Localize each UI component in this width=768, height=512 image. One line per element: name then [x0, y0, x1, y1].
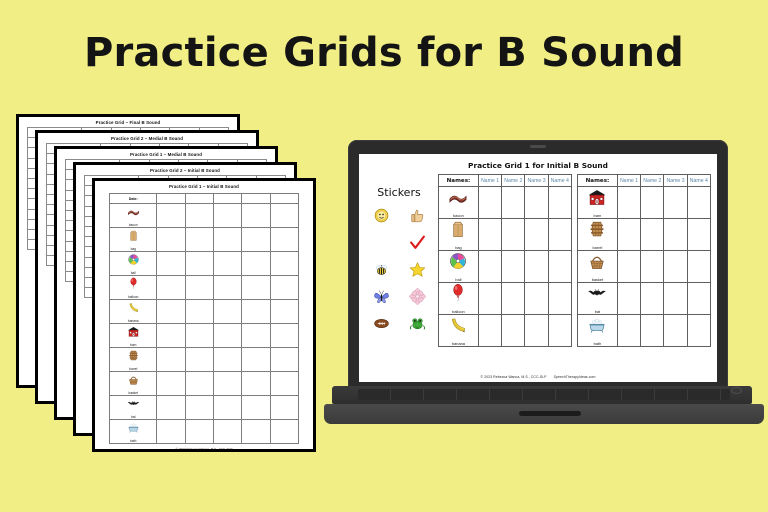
table-row: bath [110, 420, 299, 444]
score-cell[interactable] [185, 276, 213, 300]
practice-grid: Names:Name 1Name 2Name 3Name 4 barn barr… [577, 174, 711, 347]
word-cell: bath [578, 315, 618, 347]
score-cell[interactable] [185, 204, 213, 228]
score-cell[interactable] [157, 276, 185, 300]
table-row: bacon [439, 187, 572, 219]
bat-icon [587, 290, 607, 307]
score-cell[interactable] [185, 420, 213, 444]
name-column-header[interactable]: Name 2 [641, 175, 664, 187]
laptop-lid: Practice Grid 1 for Initial B Sound Stic… [348, 140, 728, 394]
score-cell[interactable] [157, 348, 185, 372]
footer-copyright: © 2023 Rebecca Wanca, M.S., CCC-SLP [480, 375, 546, 379]
football-sticker[interactable] [373, 315, 390, 337]
table-row: barrel [110, 348, 299, 372]
score-cell[interactable] [478, 315, 501, 347]
score-cell[interactable] [185, 300, 213, 324]
bathtub-icon [110, 421, 156, 439]
score-cell[interactable] [525, 283, 548, 315]
bacon-icon [448, 194, 468, 211]
bee-sticker[interactable] [373, 261, 390, 283]
score-cell[interactable] [213, 420, 241, 444]
score-cell[interactable] [687, 251, 710, 283]
score-cell[interactable] [478, 251, 501, 283]
table-header-row: Names:Name 1Name 2Name 3Name 4 [439, 175, 572, 187]
bat-icon [110, 397, 156, 415]
beachball-icon [448, 258, 468, 275]
score-cell[interactable] [502, 251, 525, 283]
score-cell[interactable] [213, 348, 241, 372]
score-cell[interactable] [525, 219, 548, 251]
word-label: ball [439, 277, 478, 282]
word-cell: ball [439, 251, 479, 283]
word-cell: banana [110, 300, 157, 324]
score-cell[interactable] [617, 251, 640, 283]
sheet-title: Practice Grid 2 – Medial B Sound [38, 133, 256, 143]
score-cell[interactable] [502, 315, 525, 347]
score-cell[interactable] [213, 372, 241, 396]
word-label: bath [110, 439, 156, 443]
score-cell[interactable] [664, 187, 687, 219]
score-cell[interactable] [617, 187, 640, 219]
word-label: barrel [110, 367, 156, 371]
score-cell[interactable] [641, 283, 664, 315]
stickers-panel: Stickers [365, 174, 433, 337]
yellow-star-sticker[interactable] [409, 261, 426, 283]
word-cell: barrel [110, 348, 157, 372]
score-cell[interactable] [242, 252, 270, 276]
word-label: bat [110, 415, 156, 419]
word-cell: bag [110, 228, 157, 252]
score-cell[interactable] [270, 276, 298, 300]
sheet-title: Practice Grid 2 – Initial B Sound [76, 165, 294, 175]
table-row: bag [439, 219, 572, 251]
table-row: bacon [110, 204, 299, 228]
beachball-icon [110, 253, 156, 271]
score-cell[interactable] [270, 228, 298, 252]
word-cell: barn [578, 187, 618, 219]
bag-icon [110, 229, 156, 247]
red-check-sticker[interactable] [409, 234, 426, 256]
word-cell: banana [439, 315, 479, 347]
score-cell[interactable] [270, 420, 298, 444]
butterfly-sticker[interactable] [373, 288, 390, 310]
word-label: banana [110, 319, 156, 323]
word-cell: barn [110, 324, 157, 348]
basket-icon [110, 373, 156, 391]
worksheet-sheet[interactable]: Practice Grid 1 – Initial B SoundDate: b… [92, 178, 316, 452]
word-label: balloon [439, 309, 478, 314]
name-column-header[interactable]: Name 3 [664, 175, 687, 187]
word-cell: bacon [439, 187, 479, 219]
laptop-mockup: Practice Grid 1 for Initial B Sound Stic… [336, 140, 764, 432]
score-cell[interactable] [213, 276, 241, 300]
table-row: barn [578, 187, 711, 219]
word-label: bag [439, 245, 478, 250]
word-cell: bath [110, 420, 157, 444]
table-row: barn [110, 324, 299, 348]
laptop-latch-notch-icon [519, 411, 581, 416]
laptop-keyboard[interactable] [358, 389, 730, 400]
banana-icon [448, 322, 468, 339]
score-cell[interactable] [213, 396, 241, 420]
score-cell[interactable] [617, 219, 640, 251]
table-header-row: Names:Name 1Name 2Name 3Name 4 [578, 175, 711, 187]
score-cell[interactable] [157, 204, 185, 228]
score-cell[interactable] [185, 252, 213, 276]
score-cell[interactable] [242, 276, 270, 300]
score-cell[interactable] [242, 324, 270, 348]
practice-grid: Names:Name 1Name 2Name 3Name 4 bacon bag… [438, 174, 572, 347]
table-row: banana [110, 300, 299, 324]
practice-tables: Names:Name 1Name 2Name 3Name 4 bacon bag… [438, 174, 711, 347]
barn-icon [110, 325, 156, 343]
score-cell[interactable] [548, 251, 571, 283]
score-cell[interactable] [548, 315, 571, 347]
word-label: bat [578, 309, 617, 314]
score-cell[interactable] [664, 315, 687, 347]
score-cell[interactable] [185, 348, 213, 372]
score-cell[interactable] [617, 315, 640, 347]
score-cell[interactable] [185, 396, 213, 420]
score-cell[interactable] [270, 324, 298, 348]
score-cell[interactable] [242, 300, 270, 324]
score-cell[interactable] [664, 219, 687, 251]
sheet-title: Practice Grid – Final B Sound [19, 117, 237, 127]
barrel-icon [110, 349, 156, 367]
name-column-header[interactable]: Name 1 [617, 175, 640, 187]
word-cell: bat [110, 396, 157, 420]
names-header: Names: [578, 175, 618, 187]
word-label: balloon [110, 295, 156, 299]
score-cell[interactable] [213, 204, 241, 228]
score-cell[interactable] [502, 283, 525, 315]
name-column-header[interactable]: Name 2 [502, 175, 525, 187]
score-cell[interactable] [157, 372, 185, 396]
score-cell[interactable] [270, 252, 298, 276]
table-row: basket [110, 372, 299, 396]
webcam-notch-icon [530, 145, 546, 148]
score-cell[interactable] [242, 396, 270, 420]
practice-grid: Date: bacon bag ball [109, 193, 299, 444]
score-cell[interactable] [525, 251, 548, 283]
score-cell[interactable] [270, 348, 298, 372]
score-cell[interactable] [641, 219, 664, 251]
word-label: bacon [439, 213, 478, 218]
score-cell[interactable] [242, 228, 270, 252]
score-cell[interactable] [478, 187, 501, 219]
table-row: balloon [439, 283, 572, 315]
basket-icon [587, 258, 607, 275]
stickers-heading: Stickers [365, 186, 433, 199]
balloon-icon [110, 277, 156, 295]
name-column-header[interactable]: Name 4 [687, 175, 710, 187]
table-row: ball [110, 252, 299, 276]
worksheet-document: Practice Grid 1 for Initial B Sound Stic… [359, 154, 717, 382]
score-cell[interactable] [641, 251, 664, 283]
footer-site: SpeechTherapyIdeas.com [554, 375, 596, 379]
pink-flower-sticker[interactable] [409, 288, 426, 310]
score-cell[interactable] [664, 251, 687, 283]
score-cell[interactable] [270, 300, 298, 324]
score-cell[interactable] [157, 228, 185, 252]
table-row: bath [578, 315, 711, 347]
score-cell[interactable] [525, 187, 548, 219]
name-column-header[interactable]: Name 1 [478, 175, 501, 187]
score-cell[interactable] [185, 324, 213, 348]
laptop-power-indicator-icon [731, 387, 742, 394]
word-cell: balloon [439, 283, 479, 315]
banana-icon [110, 301, 156, 319]
score-cell[interactable] [525, 315, 548, 347]
word-label: basket [578, 277, 617, 282]
score-cell[interactable] [617, 283, 640, 315]
score-cell[interactable] [478, 219, 501, 251]
word-label: barrel [578, 245, 617, 250]
word-cell: basket [578, 251, 618, 283]
score-cell[interactable] [502, 187, 525, 219]
word-label: ball [110, 271, 156, 275]
word-label: barn [578, 213, 617, 218]
word-cell: basket [110, 372, 157, 396]
table-row: bat [578, 283, 711, 315]
score-cell[interactable] [687, 315, 710, 347]
score-cell[interactable] [157, 324, 185, 348]
table-row: bag [110, 228, 299, 252]
name-column-header[interactable]: Name 4 [548, 175, 571, 187]
score-cell[interactable] [213, 300, 241, 324]
poster-canvas: Practice Grids for B Sound Practice Grid… [0, 0, 768, 512]
green-frog-sticker[interactable] [409, 315, 426, 337]
thumbs-up-sticker[interactable] [409, 207, 426, 229]
word-cell: bat [578, 283, 618, 315]
word-label: barn [110, 343, 156, 347]
score-cell[interactable] [548, 187, 571, 219]
word-label: bath [578, 341, 617, 346]
date-header: Date: [110, 194, 157, 204]
score-cell[interactable] [157, 396, 185, 420]
bathtub-icon [587, 322, 607, 339]
paper-stack: Practice Grid – Final B SoundPractice Gr… [16, 114, 316, 464]
score-cell[interactable] [185, 228, 213, 252]
score-cell[interactable] [664, 283, 687, 315]
table-row: bat [110, 396, 299, 420]
score-cell[interactable] [687, 187, 710, 219]
sheet-title: Practice Grid 1 – Medial B Sound [57, 149, 275, 159]
worksheet-title: Practice Grid 1 for Initial B Sound [365, 161, 711, 170]
score-cell[interactable] [242, 348, 270, 372]
score-cell[interactable] [641, 315, 664, 347]
bag-icon [448, 226, 468, 243]
score-cell[interactable] [641, 187, 664, 219]
name-column-header[interactable]: Name 3 [525, 175, 548, 187]
score-cell[interactable] [157, 420, 185, 444]
score-cell[interactable] [548, 219, 571, 251]
worksheet-footer: © 2023 Rebecca Wanca, M.S., CCC-SLP Spee… [359, 375, 717, 379]
table-row: balloon [110, 276, 299, 300]
score-cell[interactable] [687, 219, 710, 251]
score-cell[interactable] [270, 204, 298, 228]
score-cell[interactable] [213, 324, 241, 348]
table-row: barrel [578, 219, 711, 251]
score-cell[interactable] [185, 372, 213, 396]
score-cell[interactable] [548, 283, 571, 315]
table-header-row: Date: [110, 194, 299, 204]
footer-site: SpeechTherapyIdeas.com [95, 451, 313, 452]
table-row: basket [578, 251, 711, 283]
word-label: bag [110, 247, 156, 251]
word-cell: bag [439, 219, 479, 251]
smiley-coin-sticker[interactable] [373, 207, 390, 229]
sheet-footer: © 2023 Rebecca Wanca, M.S., CCC-SLPSpeec… [95, 447, 313, 453]
table-row: banana [439, 315, 572, 347]
word-label: banana [439, 341, 478, 346]
score-cell[interactable] [478, 283, 501, 315]
sheet-title: Practice Grid 1 – Initial B Sound [95, 181, 313, 191]
score-cell[interactable] [242, 420, 270, 444]
score-cell[interactable] [213, 252, 241, 276]
score-cell[interactable] [270, 396, 298, 420]
score-cell[interactable] [242, 204, 270, 228]
word-cell: barrel [578, 219, 618, 251]
word-cell: ball [110, 252, 157, 276]
page-title: Practice Grids for B Sound [0, 30, 768, 76]
score-cell[interactable] [157, 300, 185, 324]
word-label: bacon [110, 223, 156, 227]
score-cell[interactable] [270, 372, 298, 396]
barn-icon [587, 194, 607, 211]
laptop-screen[interactable]: Practice Grid 1 for Initial B Sound Stic… [359, 154, 717, 382]
word-cell: balloon [110, 276, 157, 300]
score-cell[interactable] [157, 252, 185, 276]
score-cell[interactable] [687, 283, 710, 315]
score-cell[interactable] [242, 372, 270, 396]
word-cell: bacon [110, 204, 157, 228]
barrel-icon [587, 226, 607, 243]
score-cell[interactable] [502, 219, 525, 251]
word-label: basket [110, 391, 156, 395]
sticker-grid [365, 207, 433, 337]
balloon-icon [448, 290, 468, 307]
table-row: ball [439, 251, 572, 283]
score-cell[interactable] [213, 228, 241, 252]
names-header: Names: [439, 175, 479, 187]
bacon-icon [110, 205, 156, 223]
